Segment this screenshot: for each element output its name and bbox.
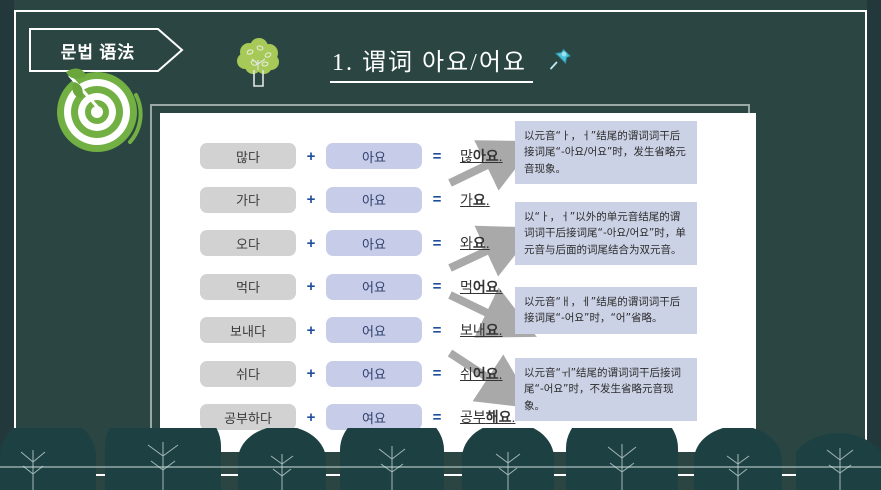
- ending-pill[interactable]: 어요: [326, 274, 422, 300]
- pushpin-icon: [547, 46, 573, 72]
- plus-operator: +: [296, 148, 326, 165]
- result-text: 공부해요.: [460, 407, 515, 427]
- table-row: 많다 + 아요 = 많아요.: [200, 141, 530, 171]
- ending-pill[interactable]: 아요: [326, 187, 422, 213]
- table-row: 보내다 + 어요 = 보내요.: [200, 315, 530, 345]
- result-prefix: 많: [460, 148, 473, 164]
- equals-operator: =: [422, 235, 452, 252]
- result-suffix: .: [486, 192, 490, 208]
- page-title: 1. 谓词 아요/어요: [330, 42, 573, 83]
- rule-note-1: 以元音“ㅏ，ㅓ”结尾的谓词词干后接词尾“-아요/어요”时，发生省略元音现象。: [515, 121, 697, 184]
- equals-operator: =: [422, 365, 452, 382]
- plus-operator: +: [296, 191, 326, 208]
- result-suffix: .: [486, 235, 490, 251]
- table-row: 공부하다 + 여요 = 공부해요.: [200, 402, 530, 432]
- result-prefix: 먹: [460, 279, 473, 295]
- result-text: 가요.: [460, 190, 490, 210]
- result-bold: 요: [486, 322, 499, 338]
- right-edge-band: [867, 0, 881, 490]
- result-bold: 요: [473, 235, 486, 251]
- ending-pill[interactable]: 아요: [326, 230, 422, 256]
- result-text: 많아요.: [460, 146, 503, 166]
- result-bold: 어요: [473, 279, 499, 295]
- plus-operator: +: [296, 365, 326, 382]
- stem-pill[interactable]: 보내다: [200, 317, 296, 343]
- stem-pill[interactable]: 가다: [200, 187, 296, 213]
- conjugation-table: 많다 + 아요 = 많아요. 가다 + 아요 = 가요. 오다 + 아요 = 와…: [200, 141, 530, 446]
- ending-pill[interactable]: 어요: [326, 361, 422, 387]
- result-bold: 어요: [473, 366, 499, 382]
- result-prefix: 와: [460, 235, 473, 251]
- table-row: 가다 + 아요 = 가요.: [200, 185, 530, 215]
- stem-pill[interactable]: 먹다: [200, 274, 296, 300]
- result-text: 와요.: [460, 233, 490, 253]
- equals-operator: =: [422, 148, 452, 165]
- result-text: 쉬어요.: [460, 364, 503, 384]
- plus-operator: +: [296, 409, 326, 426]
- result-prefix: 보내: [460, 322, 486, 338]
- tree-icon: [232, 36, 284, 90]
- content-panel: 많다 + 아요 = 많아요. 가다 + 아요 = 가요. 오다 + 아요 = 와…: [160, 113, 756, 452]
- ending-pill[interactable]: 어요: [326, 317, 422, 343]
- equals-operator: =: [422, 409, 452, 426]
- plus-operator: +: [296, 322, 326, 339]
- result-bold: 해요: [486, 409, 512, 425]
- rule-note-2: 以“ㅏ，ㅓ”以外的单元音结尾的谓词词干后接词尾“-아요/어요”时，单元音与后面的…: [515, 202, 697, 265]
- stem-pill[interactable]: 오다: [200, 230, 296, 256]
- table-row: 먹다 + 어요 = 먹어요.: [200, 272, 530, 302]
- result-suffix: .: [499, 279, 503, 295]
- equals-operator: =: [422, 322, 452, 339]
- stem-pill[interactable]: 많다: [200, 143, 296, 169]
- equals-operator: =: [422, 278, 452, 295]
- result-suffix: .: [499, 322, 503, 338]
- stem-pill[interactable]: 공부하다: [200, 404, 296, 430]
- stem-pill[interactable]: 쉬다: [200, 361, 296, 387]
- left-edge-band: [0, 0, 14, 490]
- plus-operator: +: [296, 278, 326, 295]
- rule-note-3: 以元音“ㅐ，ㅔ”结尾的谓词词干后接词尾“-어요”时，“어”省略。: [515, 287, 697, 334]
- rule-note-4: 以元音“ㅟ”结尾的谓词词干后接词尾“-어요”时，不发生省略元音现象。: [515, 358, 697, 421]
- result-bold: 요: [473, 192, 486, 208]
- table-row: 오다 + 아요 = 와요.: [200, 228, 530, 258]
- result-text: 보내요.: [460, 320, 503, 340]
- result-prefix: 쉬: [460, 366, 473, 382]
- result-prefix: 가: [460, 192, 473, 208]
- table-row: 쉬다 + 어요 = 쉬어요.: [200, 359, 530, 389]
- slide-root: 문법 语法: [0, 0, 881, 490]
- ending-pill[interactable]: 여요: [326, 404, 422, 430]
- result-text: 먹어요.: [460, 277, 503, 297]
- result-suffix: .: [499, 148, 503, 164]
- result-suffix: .: [499, 366, 503, 382]
- plus-operator: +: [296, 235, 326, 252]
- ending-pill[interactable]: 아요: [326, 143, 422, 169]
- result-prefix: 공부: [460, 409, 486, 425]
- result-bold: 아요: [473, 148, 499, 164]
- equals-operator: =: [422, 191, 452, 208]
- page-title-text: 1. 谓词 아요/어요: [330, 42, 533, 83]
- target-bullseye-icon: [48, 60, 156, 160]
